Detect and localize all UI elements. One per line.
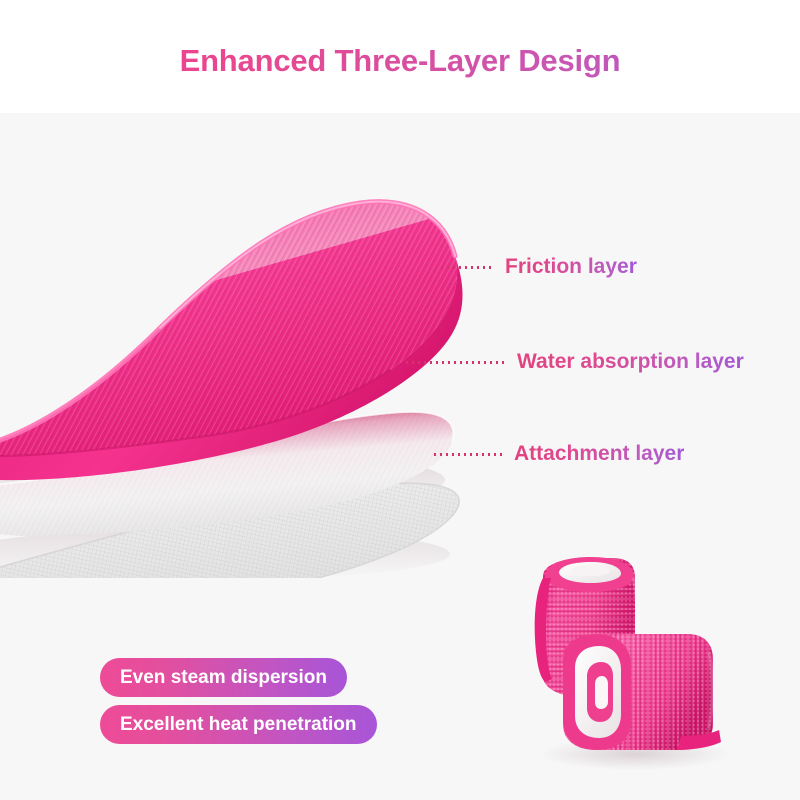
callout-attachment-layer: Attachment layer (434, 439, 684, 469)
callout-water-absorption-layer: Water absorption layer (406, 347, 744, 377)
callout-friction-label: Friction layer (505, 252, 637, 282)
dotted-leader-icon (406, 361, 505, 364)
dotted-leader-icon (434, 453, 502, 456)
callout-friction-layer: Friction layer (441, 252, 637, 282)
benefit-pill-steam-dispersion: Even steam dispersion (100, 658, 347, 697)
page-title: Enhanced Three-Layer Design (0, 40, 800, 82)
callout-attachment-label: Attachment layer (514, 439, 684, 469)
product-infographic: Enhanced Three-Layer Design Friction lay… (0, 0, 800, 800)
dotted-leader-icon (441, 266, 493, 269)
header-band: Enhanced Three-Layer Design (0, 0, 800, 113)
three-layer-illustration (0, 113, 520, 578)
rolled-wraps-photo (505, 548, 795, 798)
callout-water-label: Water absorption layer (517, 347, 744, 377)
benefit-pill-heat-penetration: Excellent heat penetration (100, 705, 377, 744)
